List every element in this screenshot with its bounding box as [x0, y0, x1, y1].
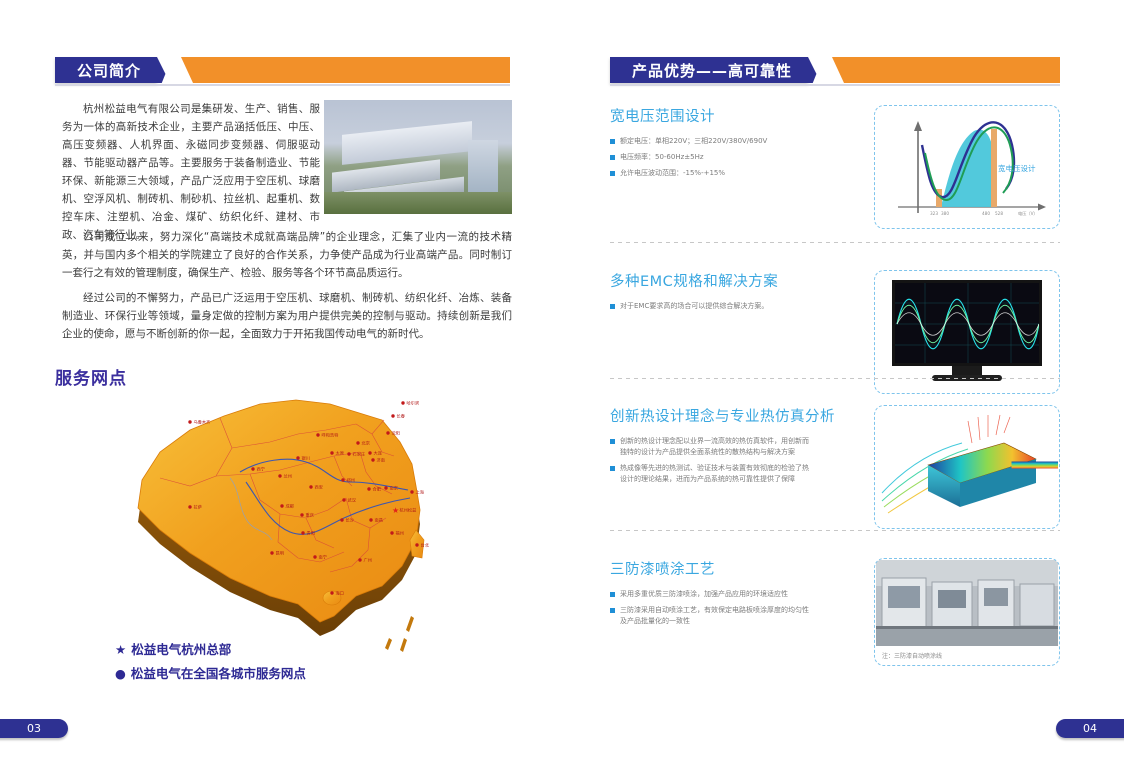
- machine-right-window: [984, 588, 1008, 606]
- map-marker-city: [368, 451, 371, 454]
- map-city-label: 西宁: [257, 466, 265, 473]
- factory-tower: [468, 140, 498, 198]
- map-legend-branches: ●松益电气在全国各城市服务网点: [115, 663, 306, 682]
- map-city-label: 石家庄: [353, 451, 366, 458]
- machine-far-right: [1020, 584, 1054, 626]
- map-marker-city: [300, 513, 303, 516]
- map-city-label: 沈阳: [392, 430, 400, 437]
- page-number-right: 04: [1056, 719, 1124, 738]
- map-marker-city: [356, 441, 359, 444]
- feature-coating: 三防漆喷涂工艺 采用多重优质三防漆喷涂，加强产品应用的环境适应性 三防漆采用自动…: [610, 558, 1060, 632]
- coating-line-photo: [876, 560, 1058, 646]
- map-city-label: 郑州: [347, 477, 355, 484]
- bullet-square-icon: [610, 139, 615, 144]
- thermal-color-legend: [1012, 462, 1059, 469]
- bullet-square-icon: [610, 466, 615, 471]
- coating-photo-box: 注：三防漆自动喷涂线: [874, 558, 1060, 666]
- bullet-square-icon: [610, 592, 615, 597]
- map-legend-headquarters: ★松益电气杭州总部: [115, 639, 231, 658]
- left-section-banner: 公司简介: [55, 57, 510, 83]
- bullet-item: 采用多重优质三防漆喷涂，加强产品应用的环境适应性: [610, 589, 815, 600]
- map-marker-city: [296, 456, 299, 459]
- legend-branch-label: 松益电气在全国各城市服务网点: [131, 666, 306, 681]
- map-city-label: 台北: [421, 542, 430, 549]
- monitor-stand: [952, 366, 982, 375]
- map-city-label: 太原: [336, 450, 344, 457]
- map-marker-city: [384, 486, 387, 489]
- map-marker-city: [270, 551, 273, 554]
- map-city-label: 杭州松益: [400, 507, 417, 514]
- coating-photo-wrap: 注：三防漆自动喷涂线: [876, 560, 1058, 664]
- chart-xtick: 380: [941, 211, 949, 216]
- map-marker-city: [278, 474, 281, 477]
- feature-divider: [610, 378, 1060, 379]
- bullet-text: 对于EMC要求高的场合可以提供综合解决方案。: [620, 301, 768, 312]
- bullet-square-icon: [610, 155, 615, 160]
- bullet-item: 热成像等先进的热测试、验证技术与装置有效彻底的检验了热设计的理论结果，进而为产品…: [610, 463, 815, 485]
- map-marker-city: [371, 458, 374, 461]
- map-city-label: 上海: [416, 489, 425, 496]
- map-marker-city: [358, 558, 361, 561]
- feature-divider: [610, 242, 1060, 243]
- intro-paragraph: 杭州松益电气有限公司是集研发、生产、销售、服务为一体的高新技术企业，主要产品涵括…: [62, 100, 320, 244]
- feature-thermal: 创新热设计理念与专业热仿真分析 创新的热设计理念配以业界一流高效的热仿真软件，用…: [610, 405, 1060, 490]
- bullet-item: 三防漆采用自动喷涂工艺，有效保定电路板喷涂厚度的均匀性及产品批量化的一致性: [610, 605, 815, 627]
- feature-wide-voltage: 宽电压范围设计 额定电压：单相220V；三相220V/380V/690V 电压频…: [610, 105, 1060, 184]
- map-marker-city: [301, 531, 304, 534]
- emc-photo-box: [874, 270, 1060, 394]
- bullet-text: 热成像等先进的热测试、验证技术与装置有效彻底的检验了热设计的理论结果，进而为产品…: [620, 463, 815, 485]
- bullet-item: 额定电压：单相220V；三相220V/380V/690V: [610, 136, 815, 147]
- map-marker-city: [340, 518, 343, 521]
- map-marker-city: [341, 478, 344, 481]
- map-marker-city: [330, 591, 333, 594]
- right-banner-title: 产品优势——高可靠性: [632, 60, 792, 81]
- map-marker-city: [390, 531, 393, 534]
- intro-paragraph: 公司成立以来，努力深化“高端技术成就高端品牌”的企业理念，汇集了业内一流的技术精…: [62, 228, 512, 282]
- thermal-image-box: [874, 405, 1060, 529]
- map-city-label: 海口: [336, 590, 344, 597]
- map-marker-hq: ★: [392, 506, 399, 515]
- map-marker-city: [391, 414, 394, 417]
- banner-orange-block: [193, 57, 510, 83]
- map-city-label: 长春: [397, 413, 406, 420]
- legend-hq-label: 松益电气杭州总部: [131, 642, 231, 657]
- right-section-banner: 产品优势——高可靠性: [610, 57, 1060, 83]
- map-marker-city: [415, 543, 418, 546]
- map-city-label: 武汉: [348, 497, 357, 504]
- coating-machines: [876, 560, 1058, 646]
- map-marker-city: [410, 490, 413, 493]
- banner-orange-block: [844, 57, 1060, 83]
- bullet-square-icon: [610, 439, 615, 444]
- feature-emc: 多种EMC规格和解决方案 对于EMC要求高的场合可以提供综合解决方案。: [610, 270, 1060, 317]
- waveform-display: [895, 283, 1041, 365]
- map-marker-city: [309, 485, 312, 488]
- bullet-text: 允许电压波动范围：-15%-+15%: [620, 168, 725, 179]
- bullet-text: 额定电压：单相220V；三相220V/380V/690V: [620, 136, 767, 147]
- bullet-item: 对于EMC要求高的场合可以提供综合解决方案。: [610, 301, 815, 312]
- machine-mid-window: [938, 590, 966, 608]
- scope-grid: [895, 283, 1041, 365]
- map-marker-city: [251, 467, 254, 470]
- map-city-label: 长沙: [346, 517, 355, 524]
- bullet-square-icon: [610, 608, 615, 613]
- feature-bullets: 采用多重优质三防漆喷涂，加强产品应用的环境适应性 三防漆采用自动喷涂工艺，有效保…: [610, 589, 815, 627]
- banner-underline: [55, 84, 510, 86]
- map-marker-city: [188, 505, 191, 508]
- map-city-label: 福州: [396, 530, 404, 537]
- coating-photo-caption: 注：三防漆自动喷涂线: [882, 651, 942, 660]
- wide-voltage-chart: 323 380 480 528 电压（V） 宽电压设计: [878, 109, 1056, 225]
- bullet-text: 三防漆采用自动喷涂工艺，有效保定电路板喷涂厚度的均匀性及产品批量化的一致性: [620, 605, 815, 627]
- factory-ground: [324, 192, 512, 214]
- bullet-square-icon: [610, 171, 615, 176]
- map-city-label: 贵阳: [307, 530, 315, 537]
- chart-y-arrow: [914, 121, 922, 131]
- machine-left-window: [888, 586, 920, 608]
- banner-underline: [610, 84, 1060, 86]
- dot-icon: ●: [115, 666, 126, 681]
- map-marker-city: [330, 451, 333, 454]
- map-marker-city: [280, 504, 283, 507]
- intro-paragraph: 经过公司的不懈努力，产品已广泛运用于空压机、球磨机、制砖机、纺织化纤、冶炼、装备…: [62, 289, 512, 343]
- map-city-label: 银川: [302, 455, 310, 462]
- wide-voltage-chart-box: 323 380 480 528 电压（V） 宽电压设计: [874, 105, 1060, 229]
- feature-bullets: 对于EMC要求高的场合可以提供综合解决方案。: [610, 301, 815, 312]
- chart-xtick: 480: [982, 211, 990, 216]
- factory-main-building: [342, 121, 472, 165]
- map-city-label: 重庆: [306, 512, 315, 519]
- map-city-label: 南京: [390, 485, 398, 492]
- feature-bullets: 额定电压：单相220V；三相220V/380V/690V 电压频率：50-60H…: [610, 136, 815, 179]
- chart-xtick: 323: [930, 211, 938, 216]
- map-marker-city: [347, 452, 350, 455]
- map-marker-city: [316, 433, 319, 436]
- map-city-label: 西安: [315, 484, 323, 491]
- map-city-label: 呼和浩特: [322, 432, 339, 439]
- map-city-label: 合肥: [373, 486, 382, 493]
- map-city-label: 大连: [374, 450, 383, 457]
- oscilloscope-monitor: [892, 280, 1042, 384]
- map-south-sea-islands: [385, 616, 414, 652]
- thermal-simulation-render: [876, 407, 1058, 527]
- feature-divider: [610, 530, 1060, 531]
- floor-edge: [876, 626, 1058, 629]
- feature-bullets: 创新的热设计理念配以业界一流高效的热仿真软件，用创新而独特的设计为产品提供全面系…: [610, 436, 815, 485]
- company-intro-rest: 公司成立以来，努力深化“高端技术成就高端品牌”的企业理念，汇集了业内一流的技术精…: [62, 228, 512, 350]
- map-city-label: 哈尔滨: [407, 400, 420, 407]
- chart-x-arrow: [1038, 204, 1046, 211]
- bullet-item: 允许电压波动范围：-15%-+15%: [610, 168, 815, 179]
- chart-shaded-band: [941, 130, 994, 207]
- map-city-label: 拉萨: [194, 504, 202, 511]
- page-number-left: 03: [0, 719, 68, 738]
- chart-marker-high: [991, 129, 997, 207]
- map-marker-city: [313, 555, 316, 558]
- bullet-square-icon: [610, 304, 615, 309]
- service-network-title: 服务网点: [55, 364, 127, 389]
- map-city-label: 济南: [377, 457, 385, 464]
- right-banner-bar: 产品优势——高可靠性: [610, 57, 808, 83]
- thermal-sim-svg: [876, 407, 1058, 527]
- star-icon: ★: [115, 642, 126, 657]
- left-banner-bar: 公司简介: [55, 57, 157, 83]
- map-city-label: 北京: [362, 440, 370, 447]
- chart-axis-label: 电压（V）: [1018, 210, 1038, 217]
- bullet-text: 采用多重优质三防漆喷涂，加强产品应用的环境适应性: [620, 589, 788, 600]
- bullet-item: 电压频率：50-60Hz±5Hz: [610, 152, 815, 163]
- map-city-label: 南昌: [375, 517, 383, 524]
- factory-photo: [324, 100, 512, 214]
- left-page: 公司简介 杭州松益电气有限公司是集研发、生产、销售、服务为一体的高新技术企业，主…: [0, 0, 562, 765]
- map-city-label: 广州: [364, 557, 372, 564]
- map-marker-city: [188, 420, 191, 423]
- oscilloscope-screen: [892, 280, 1042, 366]
- left-banner-title: 公司简介: [77, 60, 141, 81]
- map-city-label: 乌鲁木齐: [194, 419, 212, 426]
- bullet-item: 创新的热设计理念配以业界一流高效的热仿真软件，用创新而独特的设计为产品提供全面系…: [610, 436, 815, 458]
- bullet-text: 创新的热设计理念配以业界一流高效的热仿真软件，用创新而独特的设计为产品提供全面系…: [620, 436, 815, 458]
- map-marker-city: [367, 487, 370, 490]
- map-city-label: 南宁: [319, 554, 327, 560]
- chart-annotation: 宽电压设计: [998, 163, 1036, 173]
- map-marker-city: [401, 401, 404, 404]
- map-city-label: 兰州: [284, 473, 292, 479]
- bullet-text: 电压频率：50-60Hz±5Hz: [620, 152, 704, 163]
- floor-strip: [876, 628, 1058, 646]
- chart-xtick: 528: [995, 211, 1003, 216]
- map-city-label: 成都: [286, 503, 295, 510]
- map-marker-city: [342, 498, 345, 501]
- map-marker-city: [369, 518, 372, 521]
- map-marker-city: [386, 431, 389, 434]
